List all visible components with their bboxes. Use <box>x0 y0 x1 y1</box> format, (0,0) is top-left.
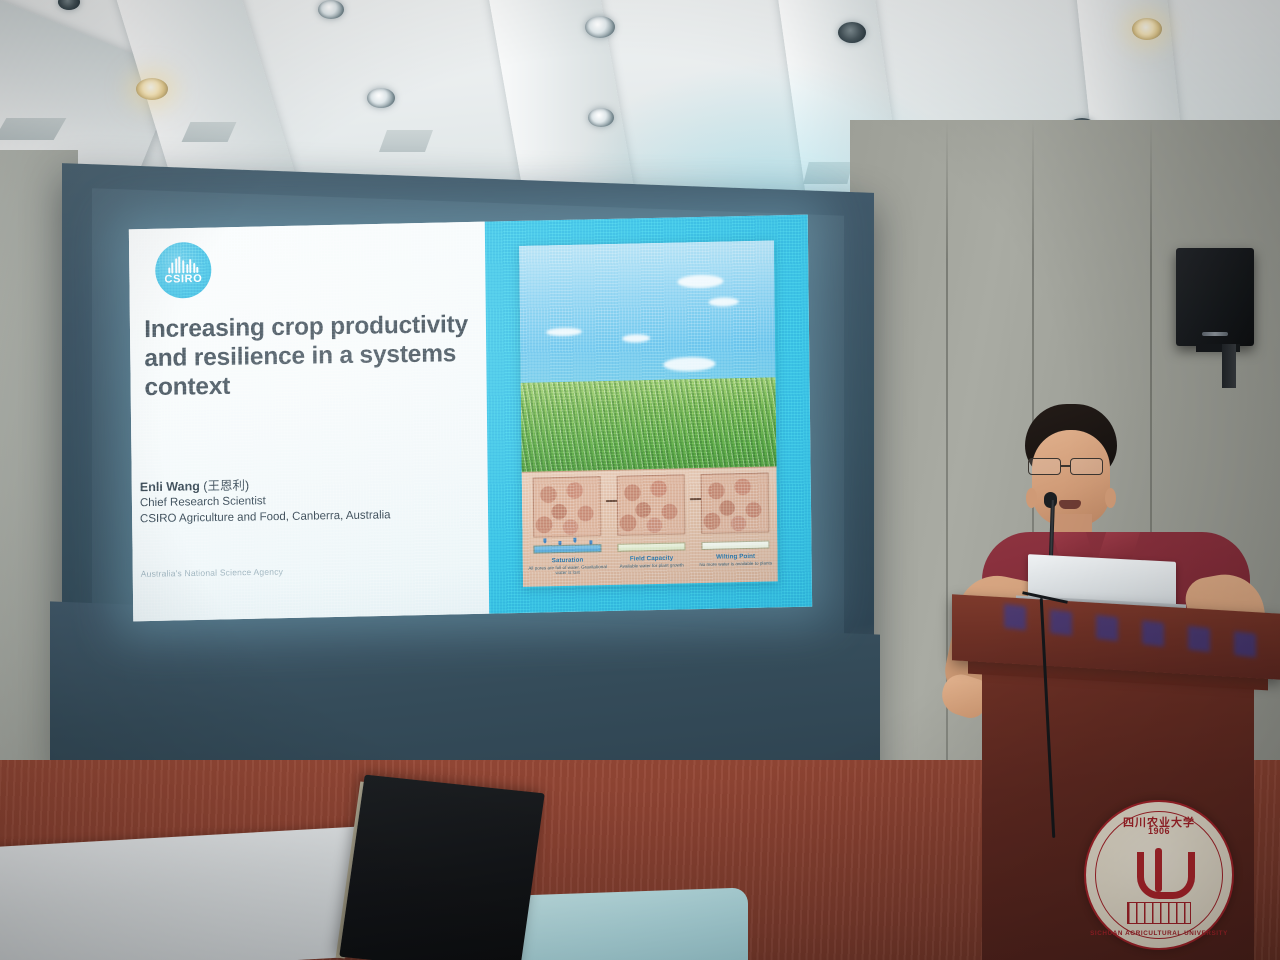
ceiling-downlight <box>367 88 395 108</box>
soil-diagram: Saturation All pores are full of water. … <box>522 466 778 587</box>
csiro-logo-icon: CSIRO <box>155 242 212 299</box>
crop-field-region <box>521 377 777 475</box>
slide-right-panel: Saturation All pores are full of water. … <box>485 215 812 614</box>
soil-label-field-capacity: Field Capacity Available water for plant… <box>612 554 691 569</box>
sky-region <box>519 241 775 393</box>
wall-speaker <box>1176 248 1254 346</box>
soil-label-saturation: Saturation All pores are full of water. … <box>528 556 607 577</box>
csiro-wordmark: CSIRO <box>164 273 202 285</box>
glasses-icon <box>1028 458 1116 475</box>
soil-label-wilting-point: Wilting Point No more water is available… <box>696 552 775 567</box>
soil-water-photo: Saturation All pores are full of water. … <box>519 241 778 588</box>
slide-footer-tagline: Australia's National Science Agency <box>141 567 283 579</box>
ceiling-downlight <box>318 0 344 19</box>
soil-text-saturation: All pores are full of water. Gravitation… <box>528 564 607 577</box>
ceiling-downlight <box>136 78 168 100</box>
ceiling-downlight <box>1132 18 1162 40</box>
foreground-desk <box>0 825 390 960</box>
speaker-badge-icon <box>1202 332 1228 336</box>
seal-emblem-icon <box>1131 852 1187 898</box>
seal-year: 1906 <box>1086 826 1232 836</box>
face <box>1032 430 1110 526</box>
slide-title: Increasing crop productivity and resilie… <box>144 311 469 403</box>
university-seal: 四川农业大学 1906 SICHUAN AGRICULTURAL UNIVERS… <box>1084 800 1234 950</box>
csiro-bars-icon <box>168 255 199 273</box>
seal-english-name: SICHUAN AGRICULTURAL UNIVERSITY <box>1086 930 1232 937</box>
mouth <box>1059 500 1081 509</box>
foreground-laptop[interactable] <box>339 775 545 960</box>
speaker-mount-stem <box>1222 344 1236 388</box>
presenter-name-suffix: (王恩利) <box>200 479 249 494</box>
ceiling-downlight <box>58 0 80 10</box>
slide-left-panel: CSIRO Increasing crop productivity and r… <box>129 222 490 622</box>
presenter-details: Enli Wang (王恩利) Chief Research Scientist… <box>140 471 470 528</box>
projected-slide: CSIRO Increasing crop productivity and r… <box>129 215 812 622</box>
presenter-name-bold: Enli Wang <box>140 479 200 494</box>
seal-building-icon <box>1127 902 1191 924</box>
ceiling-downlight <box>838 22 866 43</box>
ceiling-downlight <box>585 16 615 38</box>
lecture-hall-photo: CSIRO Increasing crop productivity and r… <box>0 0 1280 960</box>
soil-text-field-capacity: Available water for plant growth <box>612 562 691 569</box>
soil-text-wilting-point: No more water is available to plants <box>696 560 775 567</box>
